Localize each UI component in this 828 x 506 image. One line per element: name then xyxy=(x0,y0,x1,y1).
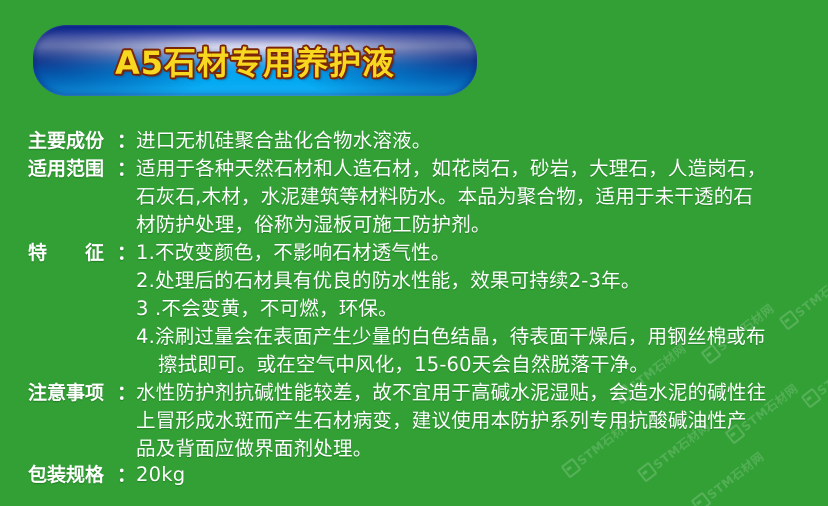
spec-row: 特 征：1.不改变颜色，不影响石材透气性。 xyxy=(0,236,828,264)
spec-label-colon: ： xyxy=(117,460,136,487)
spec-row: 注意事项：水性防护剂抗碱性能较差，故不宜用于高碱水泥湿贴，会造水泥的碱性往 xyxy=(0,376,828,404)
spec-value-line: 2.处理后的石材具有优良的防水性能，效果可持续2-3年。 xyxy=(136,264,641,293)
spec-row-continuation: 3 .不会变黄，不可燃，环保。 xyxy=(0,292,828,320)
spec-label: 适用范围： xyxy=(28,154,136,181)
spec-value-line: 适用于各种天然石材和人造石材，如花岗石，砂岩，大理石，人造岗石， xyxy=(136,152,766,181)
spec-value-line: 品及背面应做界面剂处理。 xyxy=(136,432,372,461)
spec-label-colon: ： xyxy=(117,378,136,405)
spec-label-text: 适用范围 xyxy=(28,154,104,181)
spec-label: 特 征： xyxy=(28,238,136,265)
spec-value-line: 石灰石,木材，水泥建筑等材料防水。本品为聚合物，适用于未干透的石 xyxy=(136,180,753,209)
spec-row-continuation: 擦拭即可。或在空气中风化，15-60天会自然脱落干净。 xyxy=(0,348,828,376)
spec-value-line: 3 .不会变黄，不可燃，环保。 xyxy=(136,292,398,321)
spec-value-line: 20kg xyxy=(136,463,185,486)
spec-value-line: 水性防护剂抗碱性能较差，故不宜用于高碱水泥湿贴，会造水泥的碱性往 xyxy=(136,376,766,405)
page-title: A5石材专用养护液 xyxy=(33,38,477,84)
spec-row-continuation: 4.涂刷过量会在表面产生少量的白色结晶，待表面干燥后，用钢丝棉或布 xyxy=(0,320,828,348)
spec-label: 主要成份： xyxy=(28,126,136,153)
spec-label-text: 包装规格 xyxy=(28,460,104,487)
spec-row: 包装规格：20kg xyxy=(0,460,828,488)
spec-row-continuation: 2.处理后的石材具有优良的防水性能，效果可持续2-3年。 xyxy=(0,264,828,292)
spec-row: 主要成份：进口无机硅聚合盐化合物水溶液。 xyxy=(0,124,828,152)
spec-value-line: 1.不改变颜色，不影响石材透气性。 xyxy=(136,236,451,265)
spec-value-line: 擦拭即可。或在空气中风化，15-60天会自然脱落干净。 xyxy=(136,348,649,377)
spec-row-continuation: 材防护处理，俗称为湿板可施工防护剂。 xyxy=(0,208,828,236)
spec-label-text: 特 征 xyxy=(28,238,104,265)
title-banner: A5石材专用养护液 xyxy=(33,25,477,96)
spec-row-continuation: 石灰石,木材，水泥建筑等材料防水。本品为聚合物，适用于未干透的石 xyxy=(0,180,828,208)
spec-value-line: 进口无机硅聚合盐化合物水溶液。 xyxy=(136,124,432,153)
spec-value-line: 材防护处理，俗称为湿板可施工防护剂。 xyxy=(136,208,491,237)
product-spec-list: 主要成份：进口无机硅聚合盐化合物水溶液。适用范围：适用于各种天然石材和人造石材，… xyxy=(0,124,828,488)
spec-row-continuation: 上冒形成水斑而产生石材病变，建议使用本防护系列专用抗酸碱油性产 xyxy=(0,404,828,432)
spec-row: 适用范围：适用于各种天然石材和人造石材，如花岗石，砂岩，大理石，人造岗石， xyxy=(0,152,828,180)
spec-row-continuation: 品及背面应做界面剂处理。 xyxy=(0,432,828,460)
spec-label-colon: ： xyxy=(117,154,136,181)
spec-label-colon: ： xyxy=(117,238,136,265)
spec-label-text: 主要成份 xyxy=(28,126,104,153)
spec-label: 包装规格： xyxy=(28,460,136,487)
spec-label-text: 注意事项 xyxy=(28,378,104,405)
spec-label: 注意事项： xyxy=(28,378,136,405)
spec-label-colon: ： xyxy=(117,126,136,153)
spec-value-line: 上冒形成水斑而产生石材病变，建议使用本防护系列专用抗酸碱油性产 xyxy=(136,404,747,433)
spec-value-line: 4.涂刷过量会在表面产生少量的白色结晶，待表面干燥后，用钢丝棉或布 xyxy=(136,320,766,349)
watermark-logo-icon xyxy=(691,492,712,506)
